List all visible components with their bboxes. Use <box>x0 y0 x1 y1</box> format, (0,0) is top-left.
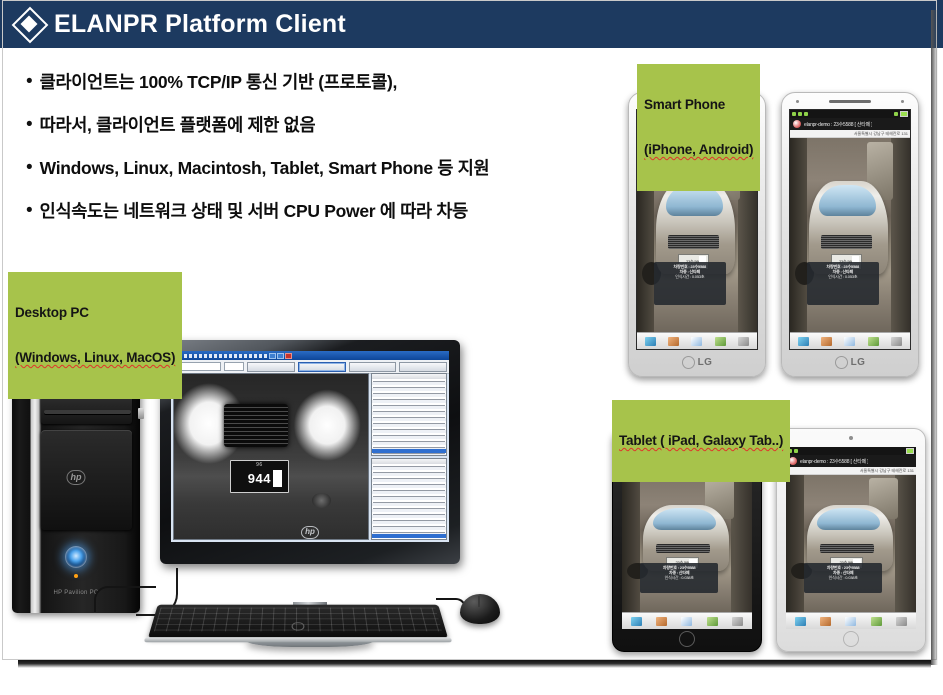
app-toolbar <box>622 612 752 629</box>
settings-icon[interactable] <box>732 617 743 626</box>
smartphone-callout-line1: Smart Phone <box>644 97 753 112</box>
camera-icon[interactable] <box>798 337 809 346</box>
list-item: • 인식속도는 네트워크 상태 및 서버 CPU Power 에 따라 차등 <box>26 201 606 222</box>
bullet-text: 클라이언트는 100% TCP/IP 통신 기반 (프로토콜), <box>40 72 397 93</box>
list-item: • Windows, Linux, Macintosh, Tablet, Sma… <box>26 158 606 179</box>
app-title-bar: elanpr-demo : 23수5588 [ 산타페 ] <box>790 118 910 130</box>
app-subtitle-text: 서울특별시 강남구 테헤란로 131 <box>786 467 916 475</box>
map-icon[interactable] <box>707 617 718 626</box>
smartphone-callout-label: Smart Phone (iPhone, Android) <box>637 64 760 191</box>
status-bar <box>790 110 910 118</box>
bullet-text: Windows, Linux, Macintosh, Tablet, Smart… <box>40 158 490 179</box>
map-icon[interactable] <box>868 337 879 346</box>
app-toolbar <box>786 612 916 629</box>
camera-icon[interactable] <box>631 617 642 626</box>
monitor-screen: 96 944 <box>171 351 449 542</box>
app-title-text: elanpr-demo : 23수5588 [ 산타페 ] <box>804 121 872 128</box>
list-item: • 클라이언트는 100% TCP/IP 통신 기반 (프로토콜), <box>26 72 606 93</box>
app-window-titlebar <box>171 351 449 360</box>
keyboard-cable <box>94 586 156 612</box>
slide-bottom-shadow <box>18 660 931 668</box>
plate-image-preview: 96 944 <box>173 373 369 540</box>
file-list-panel[interactable] <box>371 373 447 456</box>
settings-icon[interactable] <box>896 617 907 626</box>
plate-prefix-text: 96 <box>231 462 287 468</box>
close-icon[interactable] <box>285 353 292 359</box>
license-plate: 96 944 <box>230 460 288 493</box>
desktop-callout-label: Desktop PC (Windows, Linux, MacOS) <box>8 272 182 399</box>
power-button[interactable] <box>65 546 87 568</box>
slide-title-bar: ELANPR Platform Client <box>0 0 943 48</box>
battery-icon <box>906 448 914 454</box>
maximize-icon[interactable] <box>277 353 284 359</box>
phone-chin-1: LG <box>629 351 765 373</box>
app-title-text: elanpr-demo : 23수5588 [ 산타페 ] <box>800 458 868 465</box>
recognition-info-overlay: 차량번호 : 23수5588 차종 : 산타페 인식시간 : 0.038초 <box>804 563 882 593</box>
captured-photo: 23수 588 차량번호 : 23수5588 차종 : 산타페 인식시간 : 0… <box>790 138 910 332</box>
diamond-bullet-icon <box>16 11 42 37</box>
document-icon[interactable] <box>844 337 855 346</box>
desktop-callout-line1: Desktop PC <box>15 305 175 320</box>
document-icon[interactable] <box>845 617 856 626</box>
info-time-line: 인식시간 : 0.038초 <box>806 575 880 580</box>
info-time-line: 인식시간 : 0.038초 <box>642 575 716 580</box>
bullet-marker: • <box>26 72 33 92</box>
smartphone-callout-line2: (iPhone, Android) <box>644 142 753 157</box>
slide-page: ELANPR Platform Client • 클라이언트는 100% TCP… <box>0 0 943 695</box>
tablet-device-white: elanpr-demo : 23수5588 [ 산타페 ] 서울특별시 강남구 … <box>776 428 926 652</box>
settings-icon[interactable] <box>738 337 749 346</box>
bullet-text: 인식속도는 네트워크 상태 및 서버 CPU Power 에 따라 차등 <box>40 201 468 222</box>
hp-logo-keyboard <box>292 622 305 630</box>
phone-screen-2[interactable]: elanpr-demo : 23수5588 [ 산타페 ] 서울특별시 강남구 … <box>789 109 911 350</box>
app-toolbar <box>637 332 757 349</box>
desktop-callout-line2: (Windows, Linux, MacOS) <box>15 350 175 365</box>
status-led-icon <box>74 574 78 578</box>
document-icon[interactable] <box>681 617 692 626</box>
recognition-info-overlay: 차량번호 : 23수5588 차종 : 산타페 인식시간 : 0.053초 <box>807 262 879 305</box>
camera-icon[interactable] <box>795 617 806 626</box>
avatar <box>793 120 801 128</box>
status-bar <box>786 447 916 455</box>
home-button[interactable] <box>679 631 695 647</box>
app-subtitle-text: 서울특별시 강남구 테헤란로 131 <box>790 130 910 138</box>
bullet-text: 따라서, 클라이언트 플랫폼에 제한 없음 <box>40 115 316 136</box>
autorun-button[interactable] <box>298 362 346 372</box>
lg-logo-text: LG <box>698 357 713 368</box>
gallery-icon[interactable] <box>820 617 831 626</box>
pc-monitor: 96 944 <box>160 340 460 564</box>
minimize-icon[interactable] <box>269 353 276 359</box>
info-time-line: 인식시간 : 0.053초 <box>656 274 724 279</box>
plate-number-text: 944 <box>248 471 271 486</box>
map-icon[interactable] <box>715 337 726 346</box>
page-title: ELANPR Platform Client <box>54 10 346 39</box>
keyboard[interactable] <box>148 605 448 638</box>
slide-right-shadow <box>931 10 938 665</box>
captured-photo: 23수 588 차량번호 : 23수5588 차종 : 산타페 인식시간 : 0… <box>786 475 916 612</box>
elanpr-desktop-app-window: 96 944 <box>171 351 449 542</box>
lg-logo-text: LG <box>851 357 866 368</box>
gallery-icon[interactable] <box>668 337 679 346</box>
list-item: • 따라서, 클라이언트 플랫폼에 제한 없음 <box>26 115 606 136</box>
phone-chin-2: LG <box>782 351 918 373</box>
lg-logo-mark <box>835 356 848 369</box>
map-icon[interactable] <box>871 617 882 626</box>
results-list-panel[interactable] <box>371 458 447 541</box>
tablet-screen-2[interactable]: elanpr-demo : 23수5588 [ 산타페 ] 서울특별시 강남구 … <box>786 447 916 629</box>
hp-logo-monitor: hp <box>301 526 319 539</box>
camera-icon[interactable] <box>645 337 656 346</box>
recognize-button[interactable] <box>247 362 295 372</box>
send-image-button[interactable] <box>349 362 397 372</box>
recognition-info-overlay: 차량번호 : 23수5588 차종 : 산타페 인식시간 : 0.038초 <box>640 563 718 593</box>
exit-button[interactable] <box>399 362 447 372</box>
document-icon[interactable] <box>691 337 702 346</box>
hp-logo-tower: hp <box>67 470 86 485</box>
captured-photo: 23수 588 차량번호 : 23수5588 차종 : 산타페 인식시간 : 0… <box>622 475 752 612</box>
front-camera-icon <box>849 436 853 440</box>
home-button[interactable] <box>843 631 859 647</box>
tablet-callout-line1: Tablet ( iPad, Galaxy Tab..) <box>619 433 783 448</box>
gallery-icon[interactable] <box>821 337 832 346</box>
app-title-bar: elanpr-demo : 23수5588 [ 산타페 ] <box>786 455 916 467</box>
app-toolbar <box>790 332 910 349</box>
smartphone-device-2: elanpr-demo : 23수5588 [ 산타페 ] 서울특별시 강남구 … <box>781 92 919 377</box>
lg-logo-mark <box>682 356 695 369</box>
bullet-marker: • <box>26 158 33 178</box>
info-time-line: 인식시간 : 0.053초 <box>809 274 877 279</box>
bullet-marker: • <box>26 115 33 135</box>
settings-icon[interactable] <box>891 337 902 346</box>
port-input[interactable] <box>224 362 244 371</box>
bullet-marker: • <box>26 201 33 221</box>
bullet-list: • 클라이언트는 100% TCP/IP 통신 기반 (프로토콜), • 따라서… <box>26 72 606 244</box>
tablet-callout-label: Tablet ( iPad, Galaxy Tab..) <box>612 400 790 482</box>
recognition-info-overlay: 차량번호 : 23수5588 차종 : 산타페 인식시간 : 0.053초 <box>654 262 726 305</box>
mouse[interactable] <box>460 594 500 624</box>
battery-icon <box>900 111 908 117</box>
gallery-icon[interactable] <box>656 617 667 626</box>
